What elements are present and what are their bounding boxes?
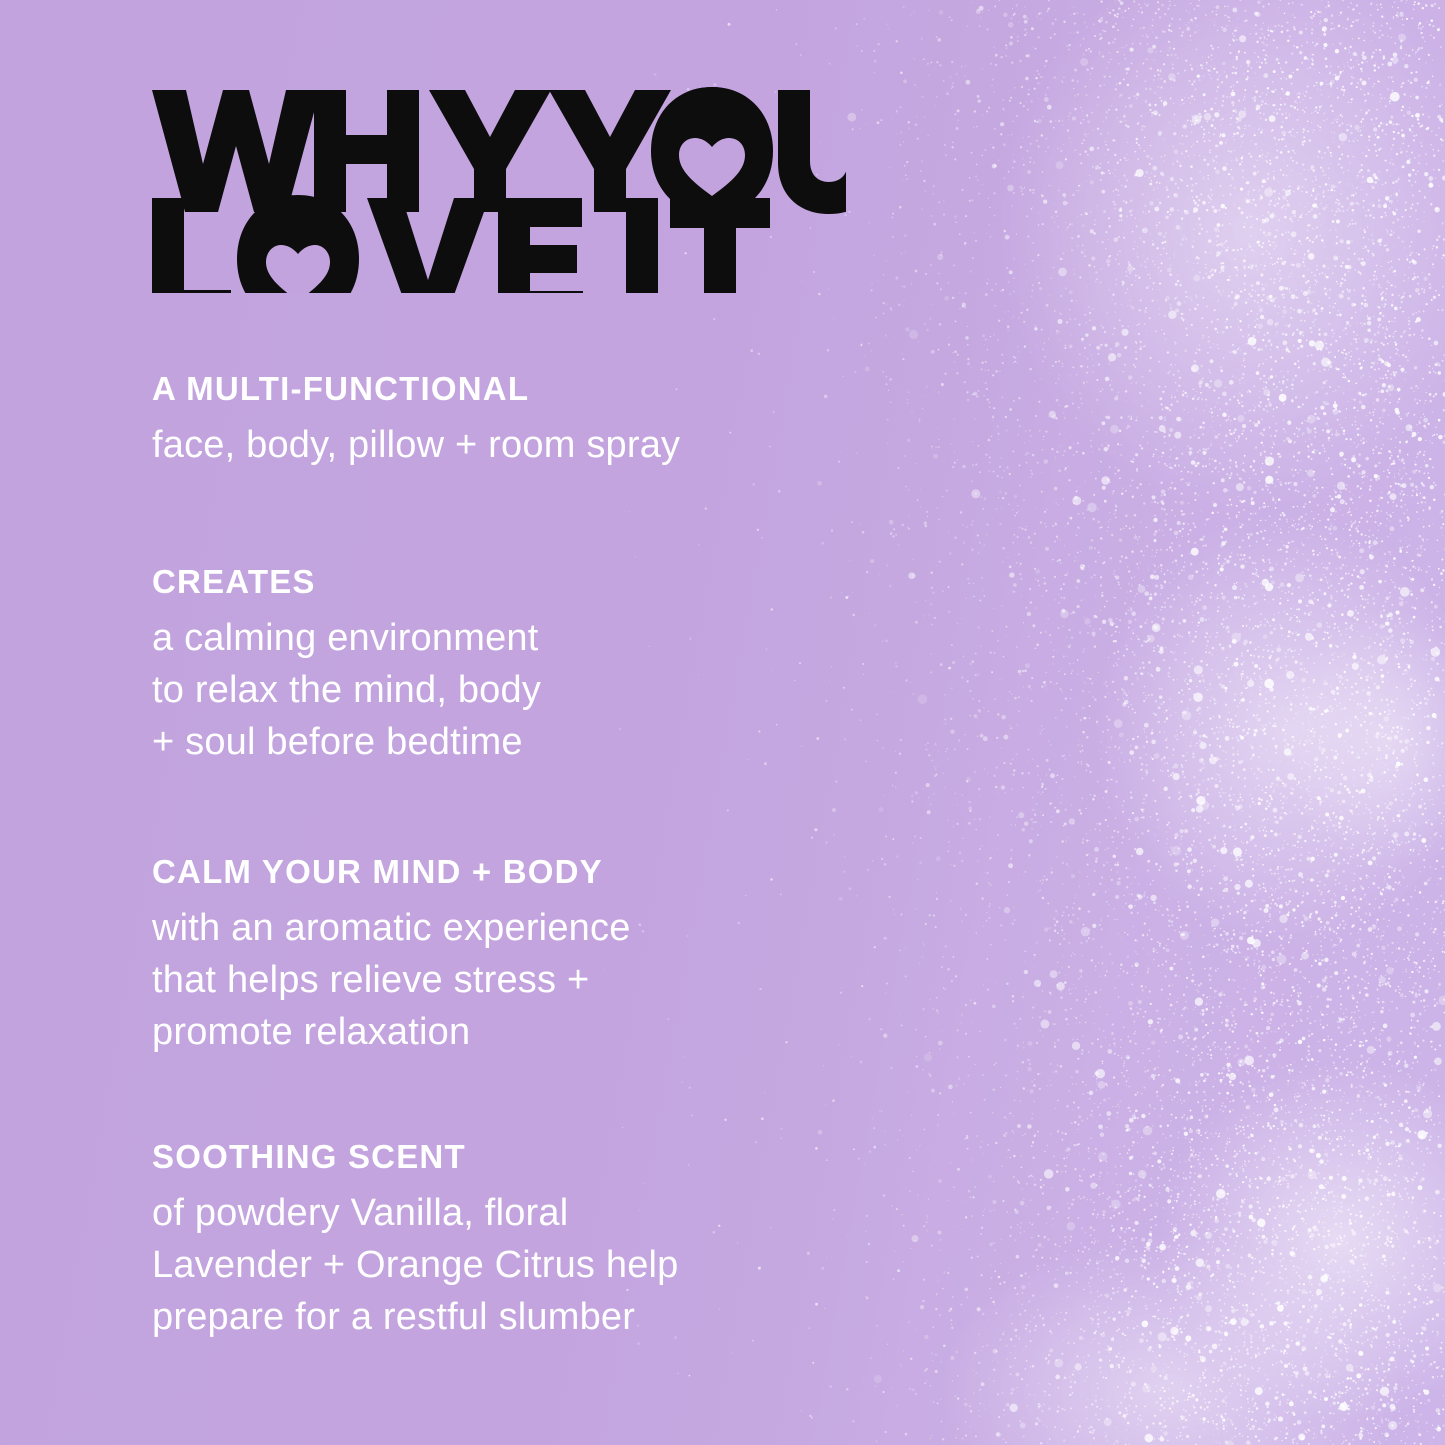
benefit-title: A MULTI-FUNCTIONAL [152,372,680,405]
benefit-line: of powdery Vanilla, floral [152,1187,679,1239]
benefit-line: with an aromatic experience [152,902,631,954]
benefit-block: A MULTI-FUNCTIONAL face, body, pillow + … [152,372,680,471]
benefit-description: with an aromatic experience that helps r… [152,902,631,1058]
benefit-block: CREATES a calming environment to relax t… [152,565,541,768]
promo-graphic: WHY YOU’LL LOVE IT [0,0,1445,1445]
benefit-line: that helps relieve stress + [152,954,631,1006]
benefit-description: of powdery Vanilla, floral Lavender + Or… [152,1187,679,1343]
benefit-description: a calming environment to relax the mind,… [152,612,541,768]
benefit-line: + soul before bedtime [152,716,541,768]
benefit-description: face, body, pillow + room spray [152,419,680,471]
page-title: WHY YOU’LL LOVE IT [146,78,906,293]
benefit-line: face, body, pillow + room spray [152,419,680,471]
content-layer: WHY YOU’LL LOVE IT [0,0,1445,1445]
benefit-line: a calming environment [152,612,541,664]
benefit-title: CREATES [152,565,541,598]
benefit-block: SOOTHING SCENT of powdery Vanilla, flora… [152,1140,679,1343]
benefit-line: Lavender + Orange Citrus help [152,1239,679,1291]
benefit-line: prepare for a restful slumber [152,1291,679,1343]
benefit-title: SOOTHING SCENT [152,1140,679,1173]
benefit-line: to relax the mind, body [152,664,541,716]
benefit-title: CALM YOUR MIND + BODY [152,855,631,888]
benefit-block: CALM YOUR MIND + BODY with an aromatic e… [152,855,631,1058]
benefit-line: promote relaxation [152,1006,631,1058]
